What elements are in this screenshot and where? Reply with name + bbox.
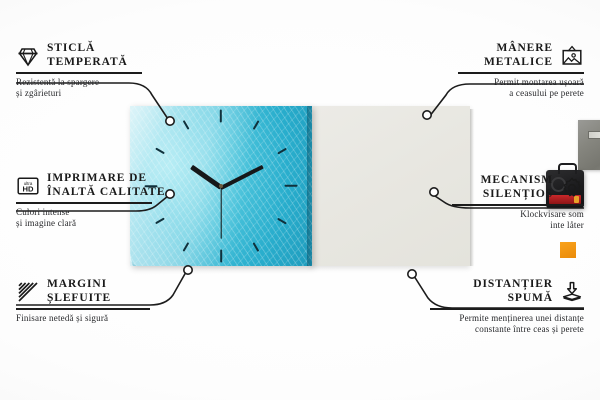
callout-silent-mechanism: MECANISM SILENȚIOS Klockvisare som inte … xyxy=(452,174,584,231)
callout-subtitle: Rezistentă la spargere și zgârieturi xyxy=(16,77,142,99)
callout-header: MÂNERE METALICE xyxy=(458,42,584,69)
callout-header: STICLĂ TEMPERATĂ xyxy=(16,42,142,69)
diagonal-stripes-icon xyxy=(16,280,40,304)
second-hand xyxy=(220,187,221,239)
callout-title: MÂNERE METALICE xyxy=(484,42,553,69)
metal-hanger-plate xyxy=(578,120,600,170)
hanger-slot xyxy=(588,131,600,139)
press-down-pad-icon xyxy=(560,280,584,304)
callout-header: MARGINI ȘLEFUITE xyxy=(16,278,150,305)
diamond-icon xyxy=(16,44,40,68)
svg-text:HD: HD xyxy=(23,184,34,193)
callout-rule xyxy=(458,72,584,74)
clock-back-panel xyxy=(310,106,470,266)
callout-high-quality-print: ultra HD IMPRIMARE DE ÎNALTĂ CALITATE Cu… xyxy=(16,172,152,229)
callout-title: DISTANȚIER SPUMĂ xyxy=(473,278,553,305)
hanging-loop xyxy=(558,163,577,174)
callout-polished-edges: MARGINI ȘLEFUITE Finisare netedă și sigu… xyxy=(16,278,150,324)
clock-tick xyxy=(220,250,222,263)
callout-rule xyxy=(16,308,150,310)
callout-subtitle: Finisare netedă și sigură xyxy=(16,313,150,324)
gear-icon xyxy=(560,176,584,200)
wire-endpoint-foam-spacer xyxy=(408,270,416,278)
callout-title: MARGINI ȘLEFUITE xyxy=(47,278,111,305)
infographic-canvas: STICLĂ TEMPERATĂ Rezistentă la spargere … xyxy=(0,0,600,400)
callout-title: IMPRIMARE DE ÎNALTĂ CALITATE xyxy=(47,172,165,199)
ultra-hd-icon: ultra HD xyxy=(16,174,40,198)
callout-subtitle: Permit montarea ușoară a ceasului pe per… xyxy=(458,77,584,99)
picture-hanger-icon xyxy=(560,44,584,68)
orange-foam-spacer xyxy=(560,242,576,258)
callout-header: MECANISM SILENȚIOS xyxy=(452,174,584,201)
wire-endpoint-polished-edges xyxy=(184,266,192,274)
callout-subtitle: Culori intense și imagine clară xyxy=(16,207,152,229)
callout-tempered-glass: STICLĂ TEMPERATĂ Rezistentă la spargere … xyxy=(16,42,142,99)
callout-subtitle: Permite menținerea unei distanțe constan… xyxy=(430,313,584,335)
callout-title: STICLĂ TEMPERATĂ xyxy=(47,42,128,69)
callout-subtitle: Klockvisare som inte låter xyxy=(452,209,584,231)
callout-rule xyxy=(16,202,152,204)
callout-rule xyxy=(16,72,142,74)
product-image xyxy=(130,106,470,266)
callout-rule xyxy=(452,204,584,206)
callout-rule xyxy=(430,308,584,310)
callout-foam-spacer: DISTANȚIER SPUMĂ Permite menținerea unei… xyxy=(430,278,584,335)
callout-title: MECANISM SILENȚIOS xyxy=(481,174,553,201)
callout-header: ultra HD IMPRIMARE DE ÎNALTĂ CALITATE xyxy=(16,172,152,199)
callout-header: DISTANȚIER SPUMĂ xyxy=(430,278,584,305)
clock-hub xyxy=(219,184,223,188)
callout-metal-handles: MÂNERE METALICE Permit montarea ușoară a… xyxy=(458,42,584,99)
